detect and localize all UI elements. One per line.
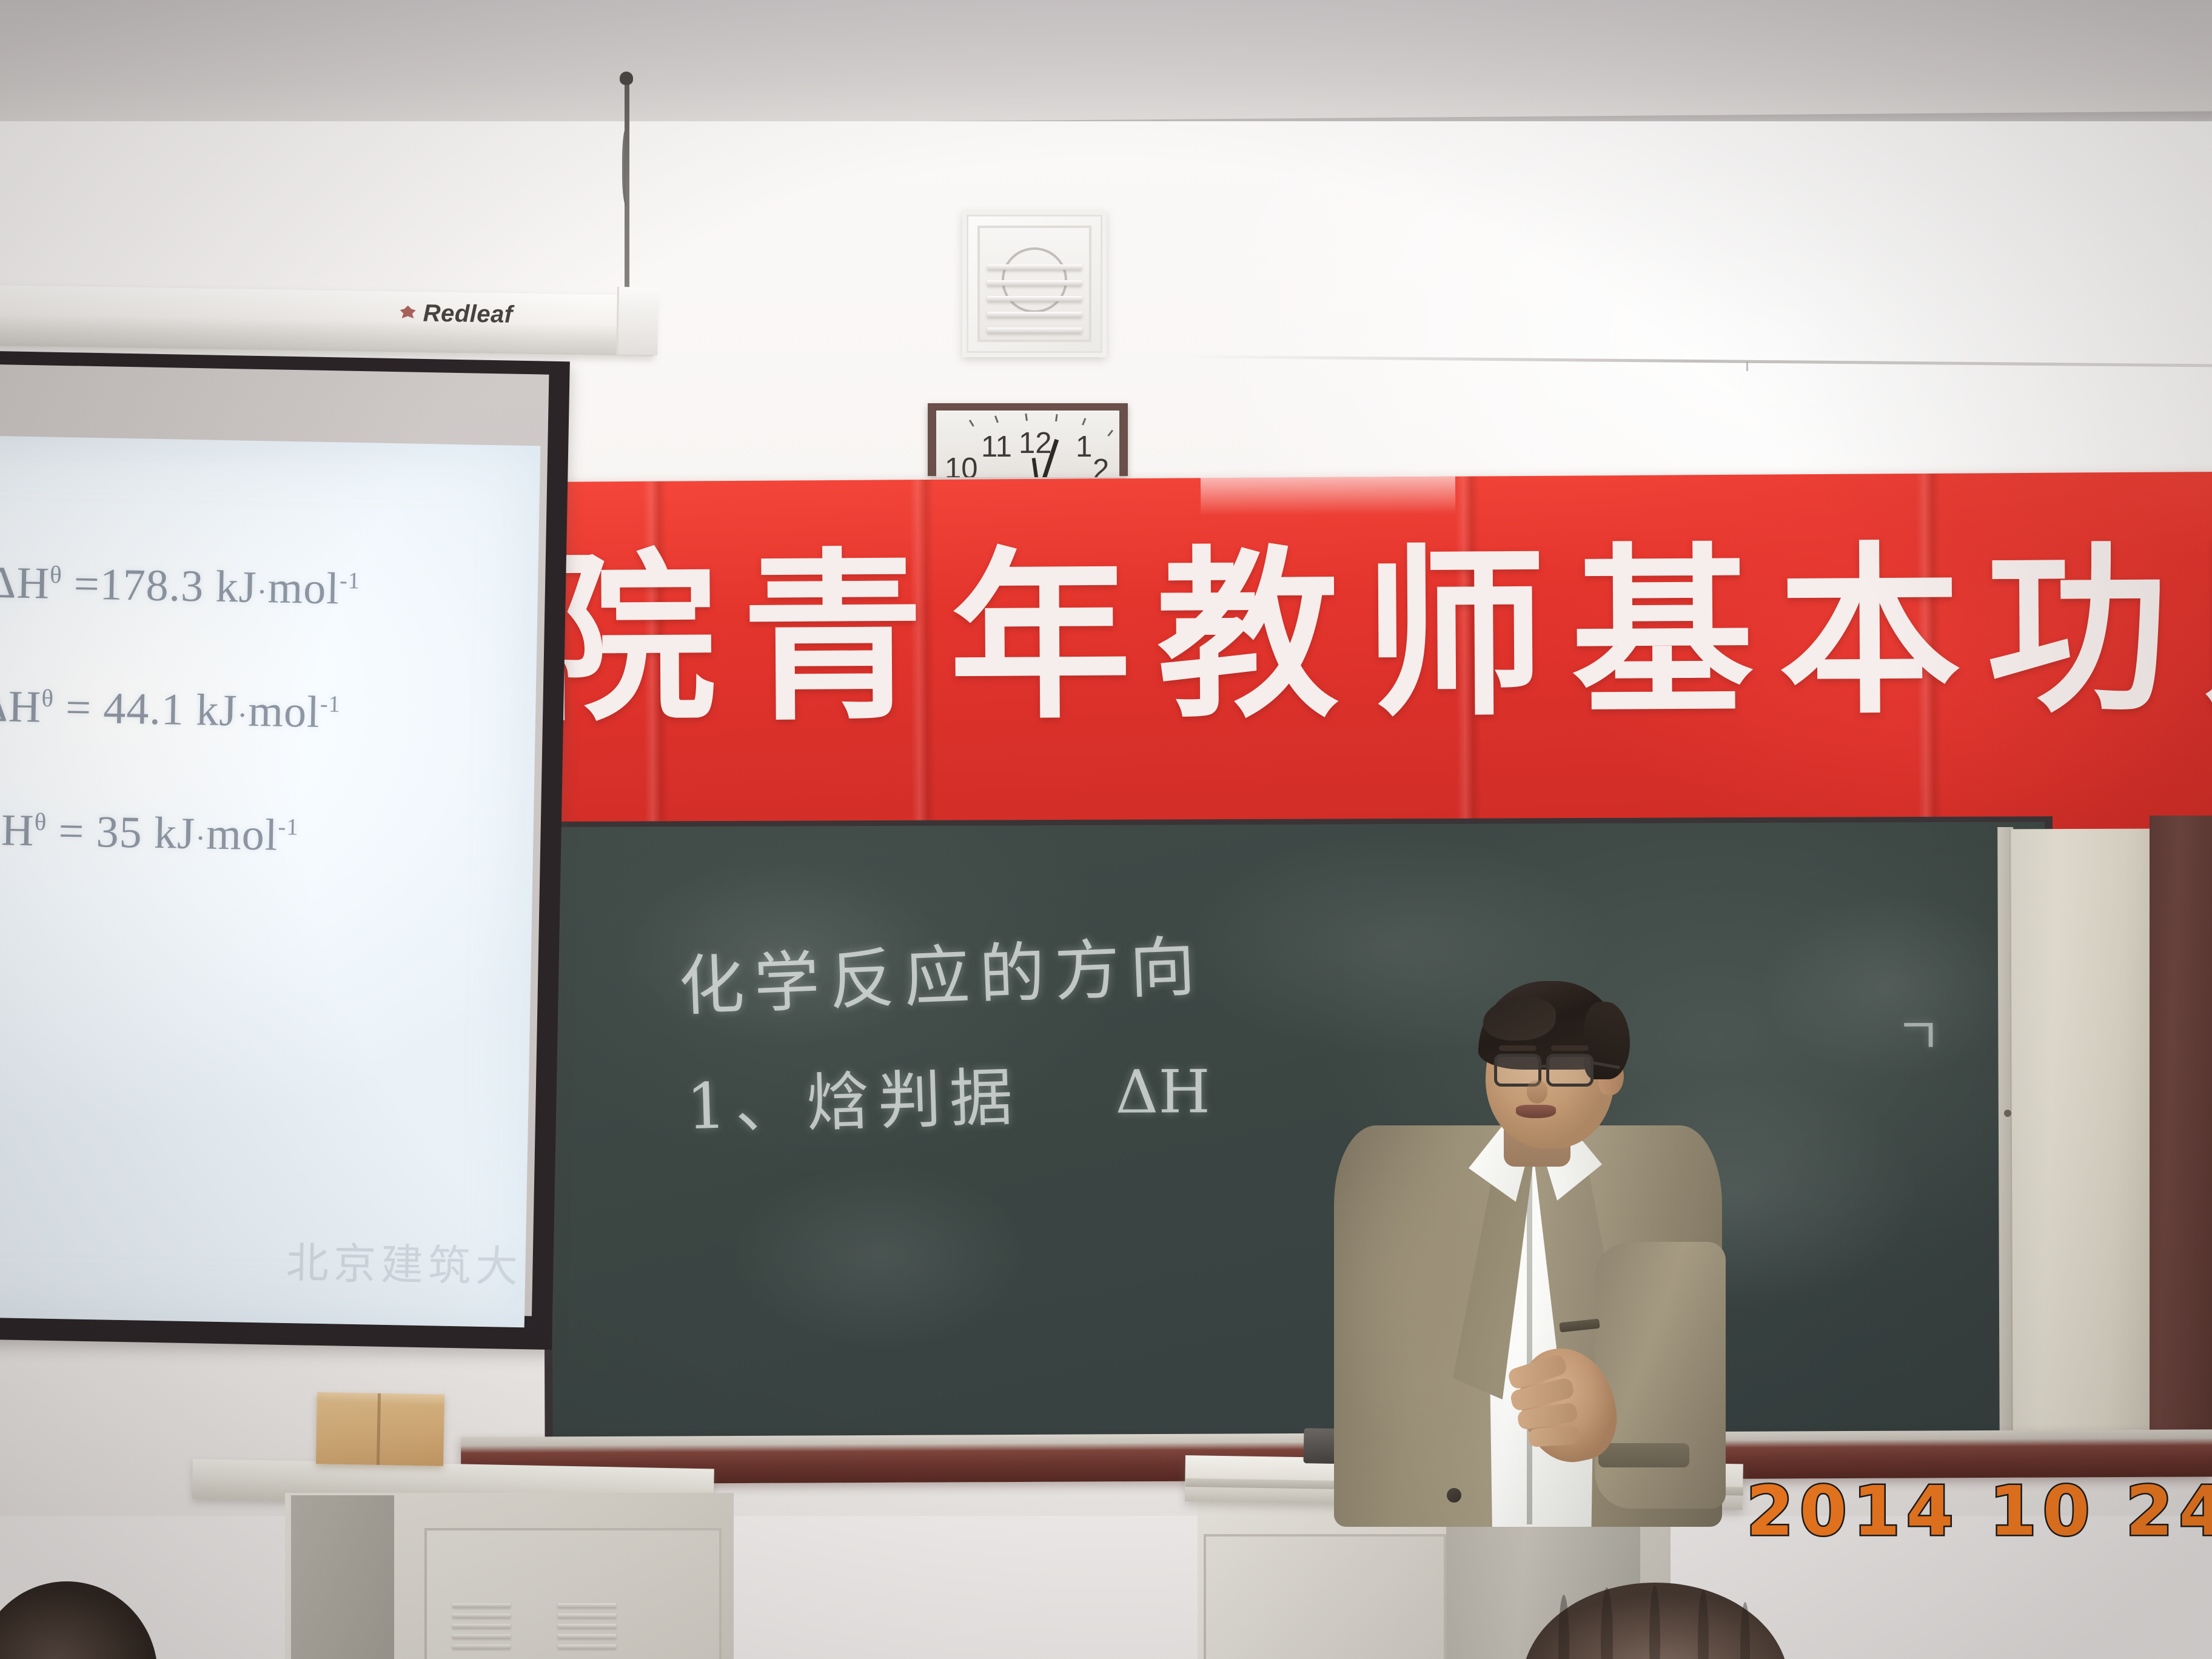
- cardboard-box: [316, 1392, 444, 1466]
- audience-head-left: [0, 1581, 158, 1659]
- slide-equation-2: ΔHθ = 44.1 kJ·mol-1: [0, 681, 341, 739]
- vent-louver: [987, 327, 1082, 333]
- blackboard-right-mark: ㄱ: [1895, 996, 1942, 1069]
- clock-numeral-1: 1: [1076, 432, 1092, 462]
- cabinet-vent-slat: [558, 1603, 616, 1607]
- slide-university-logo-text: 北京建筑大: [286, 1228, 523, 1294]
- speaker-eyebrow-right: [1551, 1045, 1589, 1051]
- clock-tick: [1082, 418, 1086, 425]
- clock-hour-hand: [1032, 458, 1039, 477]
- cabinet-vent-slat: [452, 1603, 511, 1607]
- clock-face: 10 11 12 1 2: [936, 411, 1119, 477]
- cabinet-vent-slat: [558, 1614, 616, 1618]
- cabinet-vent-slat: [558, 1624, 616, 1628]
- cabinet-vent-group: [452, 1603, 511, 1655]
- clock-numeral-10: 10: [945, 454, 978, 477]
- speaker-nose: [1527, 1081, 1547, 1104]
- redleaf-brand-label: Redleaf: [423, 300, 513, 329]
- vent-inner-frame: [977, 226, 1091, 342]
- blackboard-line-2: 1、焓判据: [685, 1045, 1022, 1147]
- blackboard: 化学反应的方向 1、焓判据 ΔH ㄱ: [543, 816, 2055, 1446]
- wall-panel-seam-tick: [1746, 361, 1748, 371]
- clock-tick: [1025, 414, 1028, 421]
- right-wall-column: [2150, 816, 2212, 1458]
- vent-louver: [987, 280, 1082, 286]
- banner-title-text: 院青年教师基本功比赛: [534, 540, 2212, 732]
- speaker-eyebrow-left: [1499, 1045, 1537, 1051]
- finger: [1527, 1426, 1580, 1447]
- bracket-end-cap: [616, 287, 659, 355]
- blackboard-side-panel: [2009, 829, 2157, 1443]
- chalk-smudge: [734, 1165, 1025, 1348]
- speaker-arm-right: [1595, 1242, 1726, 1509]
- blackboard-line-1: 化学反应的方向: [677, 914, 1206, 1028]
- speaker-presenter: [1334, 981, 1722, 1527]
- cable-kink: [622, 127, 631, 206]
- chalk-smudge: [1763, 895, 2019, 1078]
- projection-screen: ΔHθ =178.3 kJ·mol-1 ΔHθ = 44.1 kJ·mol-1 …: [0, 350, 570, 1350]
- camera-date-stamp: 2014 10 24: [1746, 1472, 2212, 1551]
- hair-strand: [1649, 1585, 1660, 1659]
- cabinet-vent-slat: [558, 1644, 616, 1649]
- cable-anchor: [620, 72, 633, 85]
- red-banner: 院青年教师基本功比赛: [534, 472, 2212, 840]
- vent-louver: [987, 264, 1082, 270]
- cabinet-vent-slat: [452, 1644, 511, 1649]
- blackboard-line-3-delta-h: ΔH: [1115, 1057, 1210, 1127]
- eyeglasses-bridge: [1540, 1065, 1550, 1068]
- wall-vent: [962, 210, 1107, 357]
- vent-louver: [987, 312, 1082, 317]
- cabinet-vent-slat: [452, 1634, 511, 1638]
- left-cabinet-pedestal: [291, 1495, 394, 1659]
- podium-door[interactable]: [1204, 1534, 1446, 1659]
- jacket-button: [1447, 1488, 1461, 1503]
- projection-screen-surface: ΔHθ =178.3 kJ·mol-1 ΔHθ = 44.1 kJ·mol-1 …: [0, 435, 540, 1327]
- clock-numeral-12: 12: [1019, 429, 1052, 458]
- hair-strand: [1740, 1602, 1750, 1659]
- clock-tick: [969, 420, 974, 427]
- cabinet-vent-slat: [558, 1634, 616, 1638]
- wall-clock: 10 11 12 1 2: [928, 403, 1128, 476]
- slide-equation-1: ΔHθ =178.3 kJ·mol-1: [0, 557, 361, 615]
- cabinet-vent-slat: [452, 1624, 511, 1628]
- slide-equation-3: ΔHθ = 35 kJ·mol-1: [0, 804, 299, 862]
- side-panel-screw: [2004, 1110, 2011, 1117]
- clock-numeral-11: 11: [981, 432, 1012, 462]
- eyeglasses-lens-right: [1546, 1054, 1594, 1087]
- redleaf-brand-mark: Redleaf: [400, 300, 513, 329]
- clock-numeral-2: 2: [1093, 455, 1109, 477]
- blackboard-surface: 化学反应的方向 1、焓判据 ΔH ㄱ: [551, 822, 2047, 1438]
- banner-sheen: [1201, 477, 1455, 516]
- speaker-shirt-placket: [1527, 1155, 1532, 1524]
- vent-louver: [987, 296, 1082, 301]
- projector-screen-bracket: [0, 285, 655, 356]
- clock-tick: [994, 415, 999, 423]
- hair-strand: [1601, 1587, 1613, 1659]
- speaker-mouth: [1516, 1105, 1556, 1118]
- left-cabinet-door[interactable]: [424, 1528, 722, 1659]
- hair-strand: [1698, 1590, 1709, 1659]
- cabinet-vent-group: [558, 1603, 616, 1655]
- box-seam: [377, 1393, 381, 1465]
- classroom-photo-scene: 10 11 12 1 2 Redleaf 院青年教师基本功比赛: [0, 0, 2212, 1659]
- clock-tick: [1055, 414, 1058, 421]
- cabinet-vent-slat: [452, 1614, 511, 1618]
- speaker-hair-fringe: [1483, 997, 1556, 1041]
- leaf-icon: [400, 305, 415, 321]
- clock-tick: [1107, 430, 1113, 437]
- speaker-jacket-cuff: [1598, 1443, 1689, 1467]
